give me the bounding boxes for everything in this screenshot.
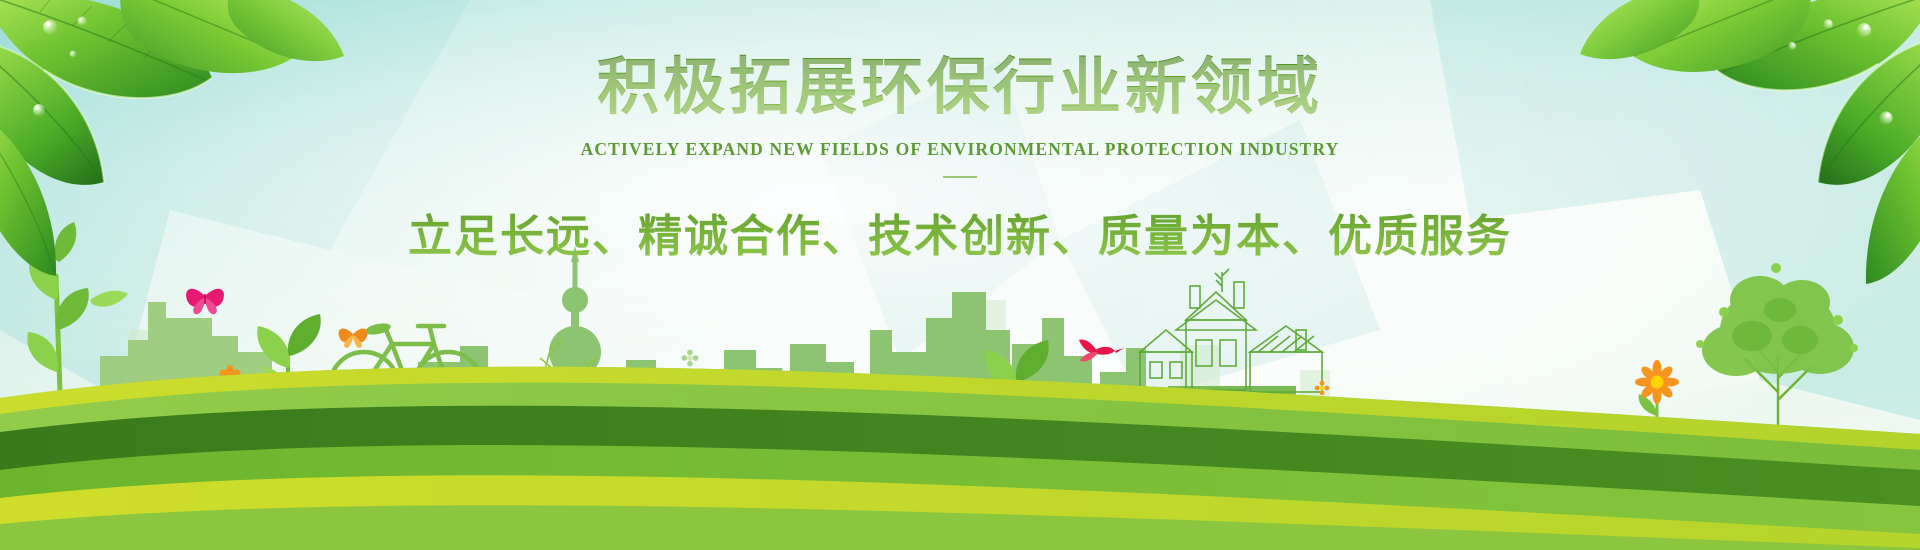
leaf-cluster-icon [0,0,1920,550]
environmental-banner: 积极拓展环保行业新领域 ACTIVELY EXPAND NEW FIELDS O… [0,0,1920,550]
